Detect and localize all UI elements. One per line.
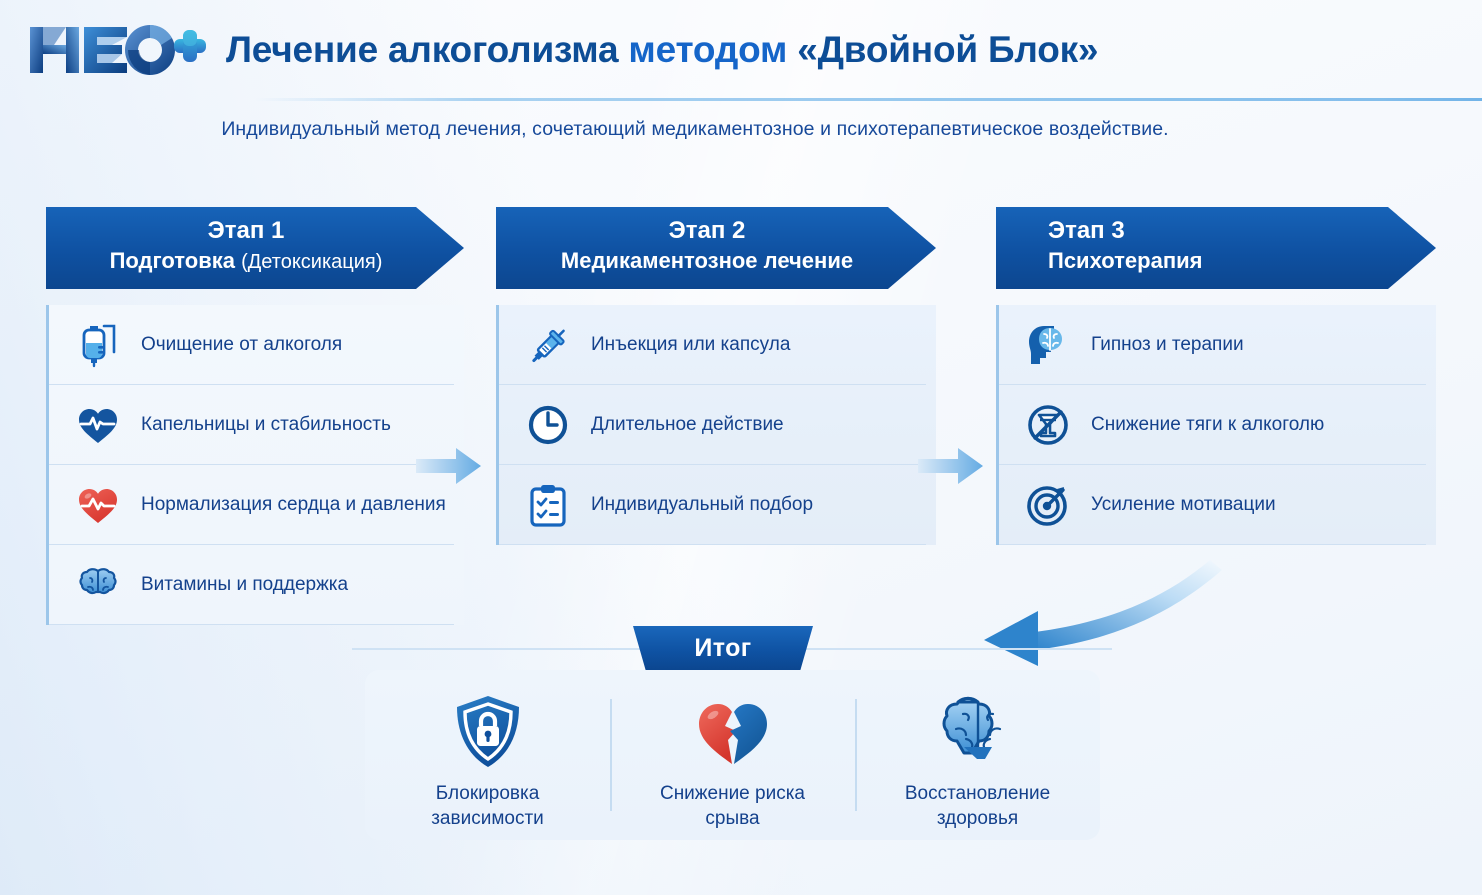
list-item[interactable]: Капельницы и стабильность	[49, 385, 454, 465]
result-item-label: Блокировка зависимости	[431, 781, 544, 831]
neo-plus-logo	[26, 21, 208, 79]
stage-header-3: Этап 3 Психотерапия	[996, 207, 1436, 289]
stage-number-1: Этап 1	[82, 216, 410, 246]
page-subtitle: Индивидуальный метод лечения, сочетающий…	[0, 118, 1390, 141]
list-item[interactable]: Снижение тяги к алкоголю	[999, 385, 1426, 465]
stage-number-3: Этап 3	[1048, 216, 1382, 246]
result-label-line-2: зависимости	[431, 808, 544, 829]
result-item-blocking[interactable]: Блокировка зависимости	[365, 691, 610, 819]
stage-body-1: Очищение от алкоголя Капельницы и стабил…	[46, 305, 464, 625]
title-part-2: методом	[628, 29, 797, 70]
result-label-line-1: Снижение риска	[660, 783, 805, 804]
result-item-health[interactable]: Восстановление здоровья	[855, 691, 1100, 819]
stage-title-1-paren: (Детоксикация)	[241, 251, 382, 273]
stage-header-1: Этап 1 Подготовка (Детоксикация)	[46, 207, 464, 289]
result-item-label: Снижение риска срыва	[660, 781, 805, 831]
heart-pulse-red-icon	[71, 478, 125, 532]
stage-body-2: Инъекция или капсула Длительное действие	[496, 305, 936, 545]
list-item[interactable]: Очищение от алкоголя	[49, 305, 454, 385]
result-section: Итог Блокировк	[0, 626, 1482, 876]
broken-heart-icon	[690, 693, 776, 771]
list-item[interactable]: Усиление мотивации	[999, 465, 1426, 545]
stage-card-2: Этап 2 Медикаментозное лечение	[496, 207, 936, 545]
result-card: Блокировка зависимости	[365, 670, 1100, 840]
stage-card-3: Этап 3 Психотерапия Гипноз и терапии	[996, 207, 1436, 545]
clipboard-checklist-icon	[521, 478, 575, 532]
brain-icon	[71, 558, 125, 612]
list-item-label: Очищение от алкоголя	[141, 334, 342, 356]
result-label-line-2: здоровья	[937, 808, 1018, 829]
stage-body-3: Гипноз и терапии Снижение тяги к алкогол…	[996, 305, 1436, 545]
result-banner: Итог	[633, 626, 813, 670]
title-part-1: Лечение алкоголизма	[226, 29, 628, 70]
shield-lock-icon	[451, 693, 525, 771]
page-header: Лечение алкоголизма методом «Двойной Бло…	[0, 0, 1482, 100]
list-item-label: Витамины и поддержка	[141, 574, 348, 596]
list-item-label: Снижение тяги к алкоголю	[1091, 414, 1324, 436]
result-label-line-1: Блокировка	[436, 783, 540, 804]
result-item-relapse[interactable]: Снижение риска срыва	[610, 691, 855, 819]
list-item-label: Инъекция или капсула	[591, 334, 790, 356]
no-alcohol-glass-icon	[1021, 398, 1075, 452]
clock-icon	[521, 398, 575, 452]
brain-large-icon	[932, 693, 1024, 771]
page-title: Лечение алкоголизма методом «Двойной Бло…	[226, 29, 1098, 71]
head-brain-icon	[1021, 318, 1075, 372]
result-label-line-1: Восстановление	[905, 783, 1050, 804]
result-item-label: Восстановление здоровья	[905, 781, 1050, 831]
stage-number-2: Этап 2	[532, 216, 882, 246]
stage-header-2: Этап 2 Медикаментозное лечение	[496, 207, 936, 289]
list-item[interactable]: Витамины и поддержка	[49, 545, 454, 625]
iv-drip-icon	[71, 318, 125, 372]
list-item[interactable]: Длительное действие	[499, 385, 926, 465]
list-item[interactable]: Гипноз и терапии	[999, 305, 1426, 385]
stage-connector-arrow-1	[416, 445, 482, 487]
stage-title-1: Подготовка (Детоксикация)	[82, 246, 410, 277]
list-item[interactable]: Инъекция или капсула	[499, 305, 926, 385]
list-item-label: Гипноз и терапии	[1091, 334, 1244, 356]
heart-pulse-blue-icon	[71, 398, 125, 452]
list-item-label: Нормализация сердца и давления	[141, 494, 446, 516]
result-label-line-2: срыва	[705, 808, 759, 829]
list-item-label: Индивидуальный подбор	[591, 494, 813, 516]
target-arrow-icon	[1021, 478, 1075, 532]
list-item[interactable]: Нормализация сердца и давления	[49, 465, 454, 545]
stage-card-1: Этап 1 Подготовка (Детоксикация)	[46, 207, 464, 625]
stage-connector-arrow-2	[918, 445, 984, 487]
header-divider	[255, 98, 1482, 101]
stage-title-3: Психотерапия	[1048, 246, 1382, 276]
title-part-3: «Двойной Блок»	[797, 29, 1098, 70]
stage-title-1-main: Подготовка	[110, 248, 242, 273]
stage-title-2: Медикаментозное лечение	[532, 246, 882, 276]
list-item-label: Длительное действие	[591, 414, 784, 436]
list-item[interactable]: Индивидуальный подбор	[499, 465, 926, 545]
list-item-label: Капельницы и стабильность	[141, 414, 391, 436]
list-item-label: Усиление мотивации	[1091, 494, 1276, 516]
syringe-icon	[521, 318, 575, 372]
